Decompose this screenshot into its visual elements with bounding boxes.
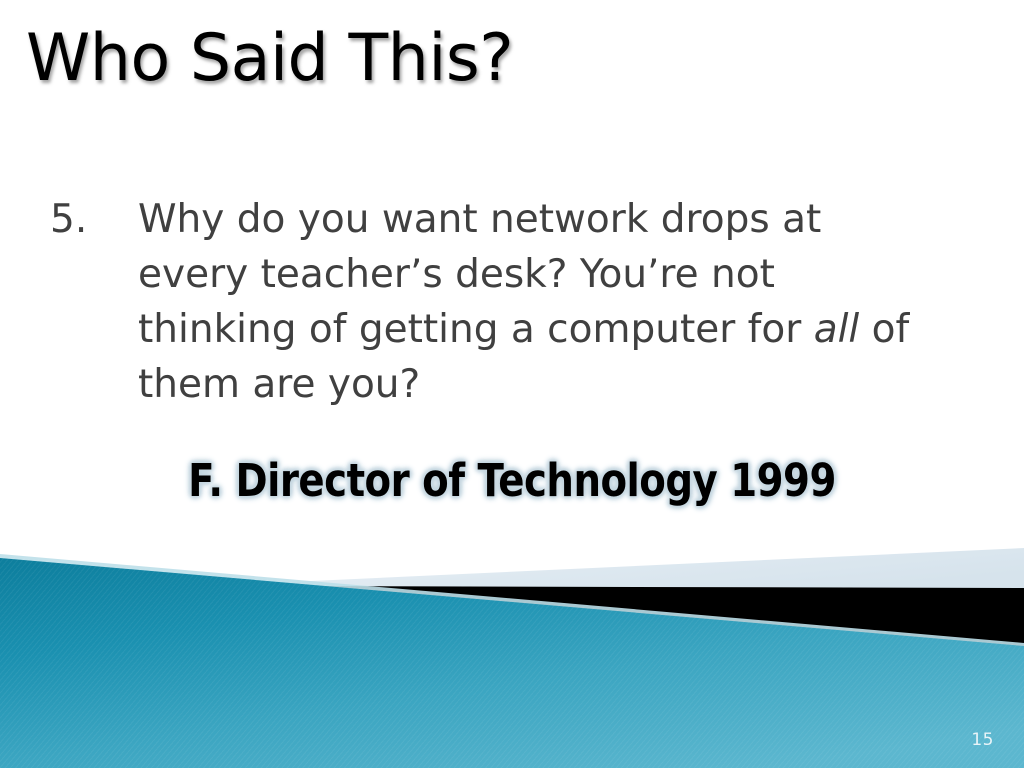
slide: Who Said This? 5. Why do you want networ… bbox=[0, 0, 1024, 768]
page-number: 15 bbox=[971, 730, 994, 750]
light-blue-wedge bbox=[268, 548, 1024, 590]
answer-attribution: F. Director of Technology 1999 bbox=[72, 452, 953, 510]
list-item-text-before: Why do you want network drops at every t… bbox=[138, 197, 821, 352]
footer-decoration bbox=[0, 520, 1024, 768]
list-item: 5. Why do you want network drops at ever… bbox=[50, 192, 980, 412]
footer-decoration-shapes bbox=[0, 520, 1024, 768]
list-item-text: Why do you want network drops at every t… bbox=[138, 192, 918, 412]
list-item-marker: 5. bbox=[50, 192, 138, 247]
list-item-text-emphasis: all bbox=[814, 307, 860, 352]
page-title: Who Said This? bbox=[26, 22, 966, 97]
body-content: 5. Why do you want network drops at ever… bbox=[50, 192, 980, 412]
